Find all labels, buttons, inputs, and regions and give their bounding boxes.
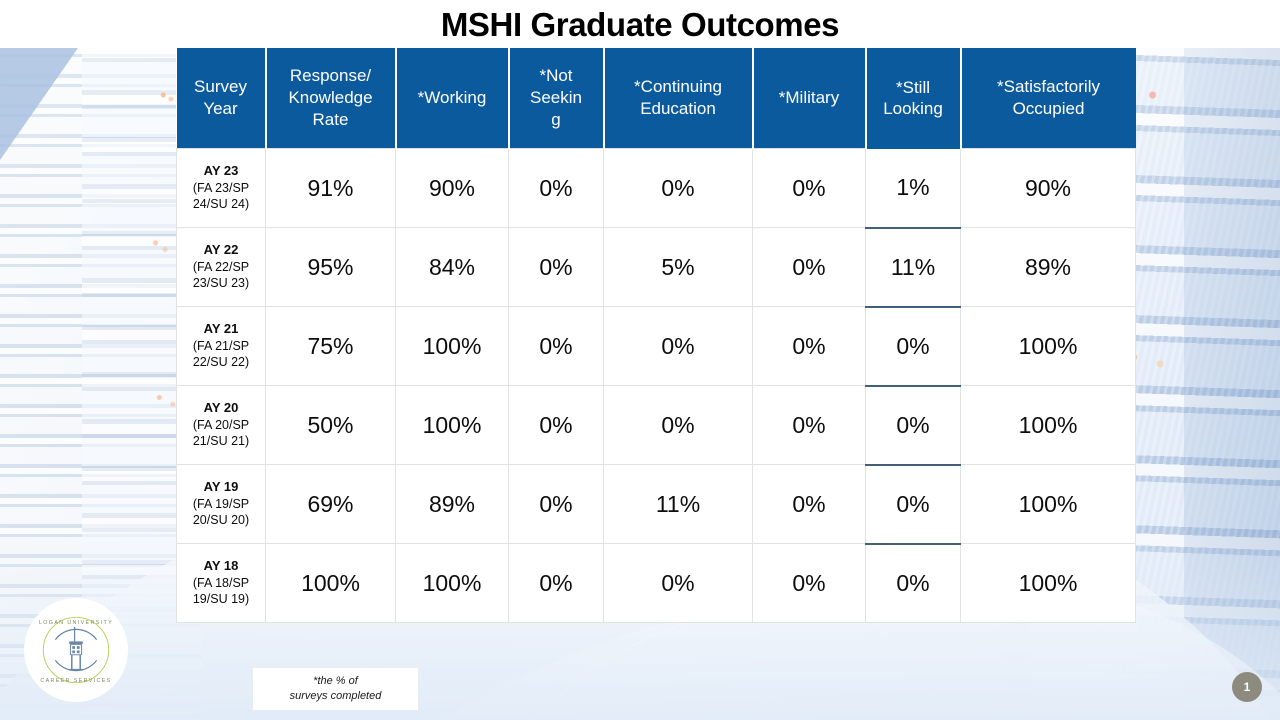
footnote-line-1: *the % of <box>313 674 358 689</box>
cell-working: 90% <box>396 149 509 228</box>
cell-still-looking: 0% <box>866 465 961 544</box>
column-header-response-knowledge-rate: Response/ Knowledge Rate <box>266 48 396 149</box>
cell-response-rate: 75% <box>266 307 396 386</box>
cell-still-looking: 0% <box>866 544 961 623</box>
outcomes-table-container: Survey Year Response/ Knowledge Rate *Wo… <box>176 48 1135 623</box>
survey-year-terms: (FA 23/SP 24/SU 24) <box>183 180 259 213</box>
table-row: AY 23(FA 23/SP 24/SU 24)91%90%0%0%0%1%90… <box>177 149 1136 228</box>
cell-working: 100% <box>396 386 509 465</box>
cell-not-seeking: 0% <box>509 386 604 465</box>
seal-bottom-text: CAREER SERVICES <box>40 678 111 684</box>
survey-year-label: AY 22 <box>183 242 259 259</box>
cell-working: 84% <box>396 228 509 307</box>
cell-military: 0% <box>753 307 866 386</box>
survey-year-terms: (FA 22/SP 23/SU 23) <box>183 259 259 292</box>
cell-survey-year: AY 20(FA 20/SP 21/SU 21) <box>177 386 266 465</box>
footnote-line-2: surveys completed <box>290 689 382 704</box>
seal-top-text: LOGAN UNIVERSITY <box>39 620 113 626</box>
cell-still-looking: 11% <box>866 228 961 307</box>
cell-not-seeking: 0% <box>509 228 604 307</box>
cell-still-looking: 0% <box>866 386 961 465</box>
cell-survey-year: AY 22(FA 22/SP 23/SU 23) <box>177 228 266 307</box>
cell-survey-year: AY 21(FA 21/SP 22/SU 22) <box>177 307 266 386</box>
survey-year-label: AY 20 <box>183 400 259 417</box>
cell-military: 0% <box>753 228 866 307</box>
cell-not-seeking: 0% <box>509 465 604 544</box>
survey-year-label: AY 23 <box>183 163 259 180</box>
cell-military: 0% <box>753 465 866 544</box>
cell-survey-year: AY 18(FA 18/SP 19/SU 19) <box>177 544 266 623</box>
survey-year-terms: (FA 20/SP 21/SU 21) <box>183 417 259 450</box>
cell-working: 100% <box>396 544 509 623</box>
table-row: AY 22(FA 22/SP 23/SU 23)95%84%0%5%0%11%8… <box>177 228 1136 307</box>
footnote-box: *the % of surveys completed <box>253 668 418 710</box>
slide-number-badge: 1 <box>1232 672 1262 702</box>
survey-year-label: AY 18 <box>183 558 259 575</box>
cell-not-seeking: 0% <box>509 149 604 228</box>
survey-year-label: AY 21 <box>183 321 259 338</box>
column-header-not-seeking: *Not Seekin g <box>509 48 604 149</box>
seal-icon: LOGAN UNIVERSITY CAREER SERVICES <box>33 607 119 693</box>
survey-year-terms: (FA 21/SP 22/SU 22) <box>183 338 259 371</box>
table-row: AY 21(FA 21/SP 22/SU 22)75%100%0%0%0%0%1… <box>177 307 1136 386</box>
cell-survey-year: AY 23(FA 23/SP 24/SU 24) <box>177 149 266 228</box>
cell-military: 0% <box>753 386 866 465</box>
cell-survey-year: AY 19(FA 19/SP 20/SU 20) <box>177 465 266 544</box>
cell-military: 0% <box>753 149 866 228</box>
column-header-continuing-education: *Continuing Education <box>604 48 753 149</box>
column-header-working: *Working <box>396 48 509 149</box>
cell-still-looking: 1% <box>866 149 961 228</box>
cell-still-looking: 0% <box>866 307 961 386</box>
cell-satisfactorily-occupied: 100% <box>961 544 1136 623</box>
column-header-still-looking: *Still Looking <box>866 48 961 149</box>
survey-year-terms: (FA 18/SP 19/SU 19) <box>183 575 259 608</box>
cell-continuing-education: 0% <box>604 544 753 623</box>
cell-continuing-education: 0% <box>604 307 753 386</box>
cell-satisfactorily-occupied: 89% <box>961 228 1136 307</box>
cell-military: 0% <box>753 544 866 623</box>
column-header-satisfactorily-occupied: *Satisfactorily Occupied <box>961 48 1136 149</box>
cell-response-rate: 95% <box>266 228 396 307</box>
cell-satisfactorily-occupied: 100% <box>961 386 1136 465</box>
cell-working: 100% <box>396 307 509 386</box>
table-row: AY 19(FA 19/SP 20/SU 20)69%89%0%11%0%0%1… <box>177 465 1136 544</box>
table-row: AY 18(FA 18/SP 19/SU 19)100%100%0%0%0%0%… <box>177 544 1136 623</box>
survey-year-label: AY 19 <box>183 479 259 496</box>
cell-response-rate: 50% <box>266 386 396 465</box>
cell-not-seeking: 0% <box>509 307 604 386</box>
survey-year-terms: (FA 19/SP 20/SU 20) <box>183 496 259 529</box>
cell-response-rate: 100% <box>266 544 396 623</box>
cell-satisfactorily-occupied: 90% <box>961 149 1136 228</box>
column-header-military: *Military <box>753 48 866 149</box>
logan-university-career-services-logo: LOGAN UNIVERSITY CAREER SERVICES <box>24 598 128 702</box>
page-title: MSHI Graduate Outcomes <box>0 2 1280 48</box>
cell-response-rate: 69% <box>266 465 396 544</box>
slide-canvas: MSHI Graduate Outcomes Survey Year Respo… <box>0 0 1280 720</box>
cell-continuing-education: 0% <box>604 386 753 465</box>
cell-continuing-education: 0% <box>604 149 753 228</box>
cell-satisfactorily-occupied: 100% <box>961 465 1136 544</box>
cell-continuing-education: 11% <box>604 465 753 544</box>
table-header-row: Survey Year Response/ Knowledge Rate *Wo… <box>177 48 1136 149</box>
cell-continuing-education: 5% <box>604 228 753 307</box>
outcomes-table: Survey Year Response/ Knowledge Rate *Wo… <box>176 48 1136 623</box>
cell-response-rate: 91% <box>266 149 396 228</box>
cell-working: 89% <box>396 465 509 544</box>
cell-satisfactorily-occupied: 100% <box>961 307 1136 386</box>
cell-not-seeking: 0% <box>509 544 604 623</box>
column-header-survey-year: Survey Year <box>177 48 266 149</box>
table-row: AY 20(FA 20/SP 21/SU 21)50%100%0%0%0%0%1… <box>177 386 1136 465</box>
